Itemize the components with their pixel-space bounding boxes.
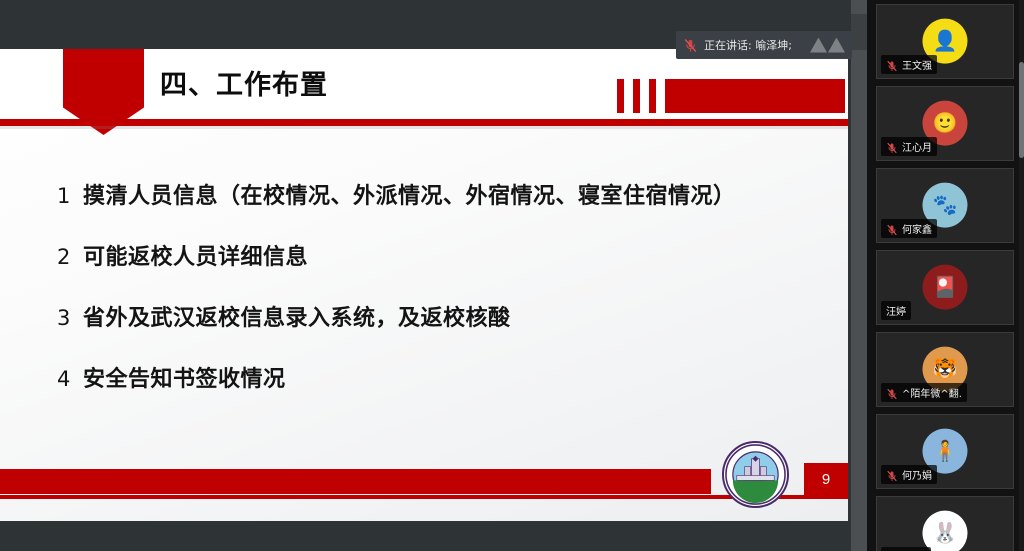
- list-item: 1 摸清人员信息（在校情况、外派情况、外宿情况、寝室住宿情况）: [57, 179, 827, 214]
- participant-name: 王文强: [902, 57, 932, 72]
- participant-nameplate: 江心月: [881, 137, 937, 156]
- speaking-indicator: 正在讲话: 喻泽坤;: [676, 31, 852, 59]
- participant-tile[interactable]: 🎴汪婷: [876, 250, 1014, 325]
- participant-tile[interactable]: 🙂江心月: [876, 86, 1014, 161]
- bullet-text: 安全告知书签收情况: [83, 363, 286, 397]
- slide-footer-bar: [0, 469, 711, 494]
- participant-tile[interactable]: 👤王文强: [876, 4, 1014, 79]
- list-item: 4 安全告知书签收情况: [57, 362, 827, 397]
- list-item: 2 可能返校人员详细信息: [57, 240, 827, 275]
- speaking-label: 正在讲话: 喻泽坤;: [704, 37, 792, 53]
- title-divider-shadow: [0, 126, 848, 129]
- participant-nameplate: 一脸懵圈: [881, 547, 931, 551]
- bullet-number: 4: [57, 362, 83, 396]
- avatar: 🐰: [923, 510, 968, 551]
- bullet-text: 摸清人员信息（在校情况、外派情况、外宿情况、寝室住宿情况）: [83, 180, 736, 214]
- deco-tick: [617, 79, 624, 113]
- deco-tick: [649, 79, 656, 113]
- video-conference-screen: 四、工作布置 1 摸清人员信息（在校情况、外派情况、外宿情况、寝室住宿情况） 2…: [0, 0, 1024, 551]
- bullet-text: 省外及武汉返校信息录入系统，及返校核酸: [83, 302, 511, 336]
- mic-muted-icon: [886, 387, 898, 399]
- participant-nameplate: ^陌年微^翻.: [881, 383, 967, 402]
- slide-title: 四、工作布置: [160, 67, 328, 105]
- mic-muted-icon: [683, 38, 698, 53]
- audio-level-chevron: [828, 38, 845, 53]
- participant-nameplate: 何家鑫: [881, 219, 937, 238]
- mic-muted-icon: [886, 223, 898, 235]
- bullet-number: 2: [57, 240, 83, 274]
- slide-bullet-list: 1 摸清人员信息（在校情况、外派情况、外宿情况、寝室住宿情况） 2 可能返校人员…: [57, 179, 827, 423]
- participant-nameplate: 王文强: [881, 55, 937, 74]
- sidebar-gutter: [851, 0, 867, 551]
- bullet-number: 1: [57, 179, 83, 213]
- title-divider-rule: [0, 119, 848, 126]
- title-decoration-bars: [617, 79, 845, 113]
- shared-screen-stage[interactable]: 四、工作布置 1 摸清人员信息（在校情况、外派情况、外宿情况、寝室住宿情况） 2…: [0, 0, 851, 551]
- participant-name: ^陌年微^翻.: [902, 385, 962, 400]
- mic-muted-icon: [886, 59, 898, 71]
- audio-level-icon: [810, 38, 845, 53]
- participant-nameplate: 汪婷: [881, 301, 911, 320]
- deco-tick: [633, 79, 640, 113]
- participant-name: 何家鑫: [902, 221, 932, 236]
- slide-footer-rule: [0, 495, 848, 499]
- participant-tile[interactable]: 🐾何家鑫: [876, 168, 1014, 243]
- participant-name: 何乃娟: [902, 467, 932, 482]
- participant-tile[interactable]: 🐯^陌年微^翻.: [876, 332, 1014, 407]
- list-item: 3 省外及武汉返校信息录入系统，及返校核酸: [57, 301, 827, 336]
- participant-tile[interactable]: 🧍何乃娟: [876, 414, 1014, 489]
- stage-bottom-letterbox: [0, 521, 851, 551]
- sidebar-scrollbar[interactable]: [1019, 0, 1024, 551]
- participant-tile-list[interactable]: 👤王文强🙂江心月🐾何家鑫🎴汪婷🐯^陌年微^翻.🧍何乃娟🐰一脸懵圈: [867, 0, 1024, 551]
- avatar: 🎴: [923, 264, 968, 309]
- participant-tile[interactable]: 🐰一脸懵圈: [876, 496, 1014, 551]
- bullet-text: 可能返校人员详细信息: [83, 241, 308, 275]
- mic-muted-icon: [886, 141, 898, 153]
- participants-sidebar[interactable]: 👤王文强🙂江心月🐾何家鑫🎴汪婷🐯^陌年微^翻.🧍何乃娟🐰一脸懵圈: [851, 0, 1024, 551]
- participant-name: 江心月: [902, 139, 932, 154]
- participant-name: 汪婷: [886, 303, 906, 318]
- bullet-number: 3: [57, 301, 83, 335]
- audio-level-chevron: [810, 38, 827, 53]
- mic-muted-icon: [886, 469, 898, 481]
- deco-slab: [665, 79, 845, 113]
- sidebar-scrollbar-thumb[interactable]: [1019, 62, 1024, 158]
- yangtze-university-logo: [722, 441, 789, 508]
- participant-nameplate: 何乃娟: [881, 465, 937, 484]
- sidebar-gutter-notch: [851, 14, 867, 50]
- slide-page-number: 9: [804, 463, 848, 495]
- presentation-slide: 四、工作布置 1 摸清人员信息（在校情况、外派情况、外宿情况、寝室住宿情况） 2…: [0, 49, 848, 521]
